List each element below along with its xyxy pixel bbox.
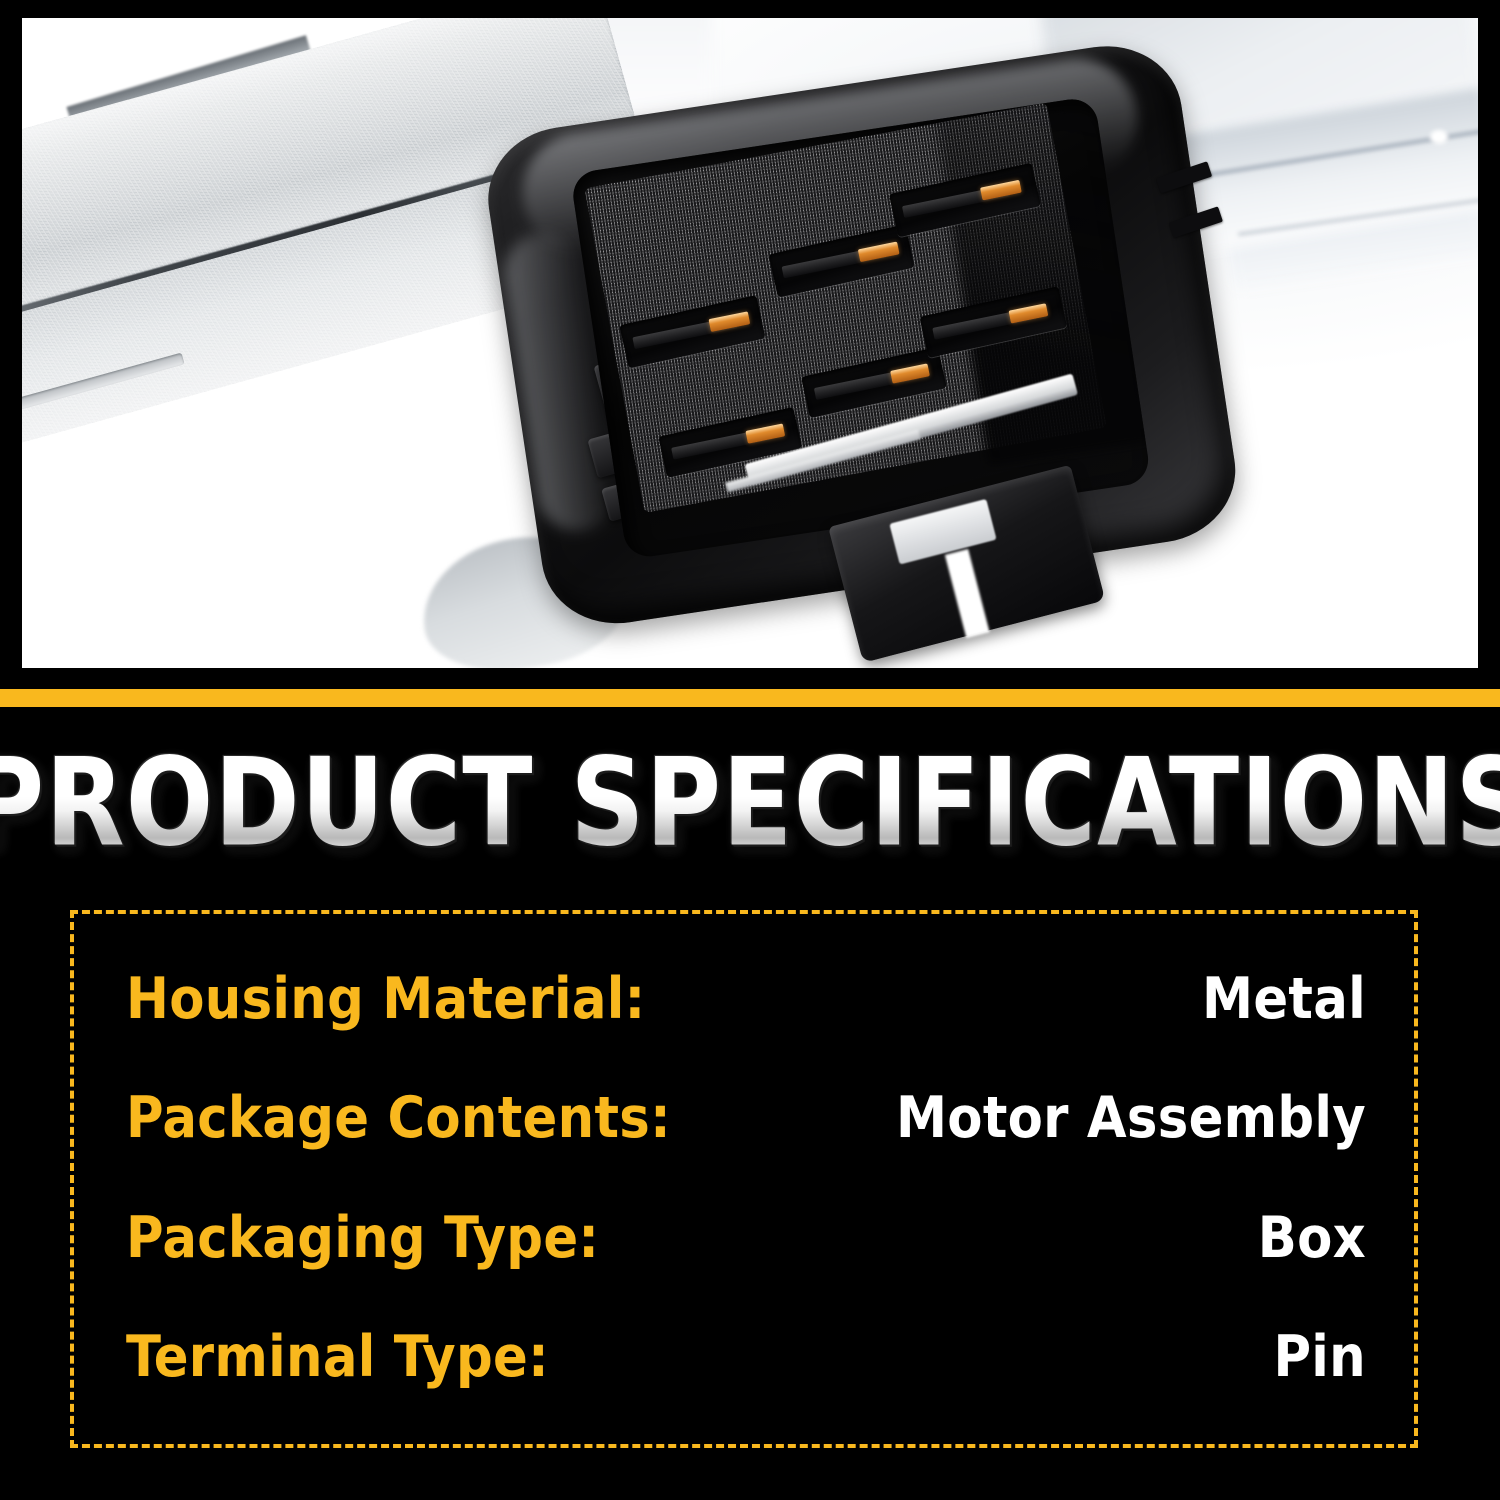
spec-value-housing-material: Metal — [1202, 970, 1366, 1030]
spec-value-packaging-type: Box — [1258, 1209, 1366, 1269]
spec-label-terminal-type: Terminal Type: — [126, 1328, 549, 1388]
specifications-box: Housing Material: Metal Package Contents… — [70, 910, 1418, 1448]
product-listing-page: PRODUCT SPECIFICATIONS Housing Material:… — [0, 0, 1500, 1500]
spec-label-packaging-type: Packaging Type: — [126, 1209, 599, 1269]
spec-label-housing-material: Housing Material: — [126, 970, 645, 1030]
spec-row-package-contents: Package Contents: Motor Assembly — [126, 1089, 1366, 1149]
spec-value-package-contents: Motor Assembly — [896, 1089, 1366, 1149]
page-title: PRODUCT SPECIFICATIONS — [0, 744, 1500, 865]
product-photo — [22, 18, 1478, 668]
accent-divider-bar — [0, 689, 1500, 707]
photo-background-highlight — [1430, 130, 1448, 144]
spec-value-terminal-type: Pin — [1273, 1328, 1366, 1388]
spec-row-housing-material: Housing Material: Metal — [126, 970, 1366, 1030]
spec-row-terminal-type: Terminal Type: Pin — [126, 1328, 1366, 1388]
spec-row-packaging-type: Packaging Type: Box — [126, 1209, 1366, 1269]
spec-label-package-contents: Package Contents: — [126, 1089, 671, 1149]
electrical-connector — [437, 18, 1297, 668]
page-title-container: PRODUCT SPECIFICATIONS — [0, 744, 1500, 864]
